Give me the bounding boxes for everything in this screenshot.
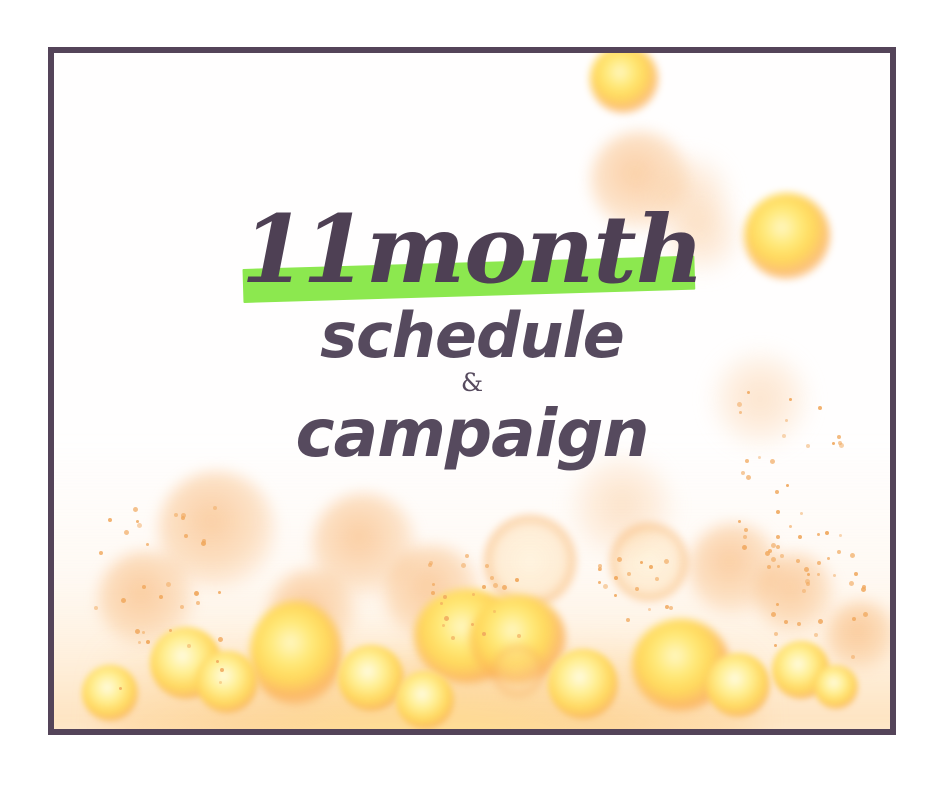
bottom-glow-wash [54,445,890,729]
bokeh-orb-glow-bottom-j [772,641,830,699]
page-title: 11month [241,203,703,299]
bokeh-orb-glow-bottom-i [706,653,770,717]
bokeh-orb-soft-left-b [98,551,194,647]
headline-word: month [366,195,703,305]
bokeh-ring-bottom [492,645,544,697]
bokeh-orb-glow-bottom-f [196,651,258,713]
bokeh-orb-soft-right-b [688,523,780,615]
bokeh-orb-glow-top [590,53,658,113]
bokeh-orb-glow-bottom-a [414,589,522,683]
subline-schedule: schedule [54,303,890,368]
headline-wrapper: 11month [237,203,707,299]
dot-cluster-center [594,553,674,623]
bokeh-orb-soft-mid-a [312,493,416,597]
poster-canvas: 11month schedule & campaign [0,0,940,788]
bokeh-orb-soft-far-right [826,601,890,671]
poster-text-block: 11month schedule & campaign [54,203,890,468]
bokeh-ring-center [484,515,576,607]
bokeh-orb-glow-bottom-m [396,671,454,729]
bokeh-orb-soft-left-a [158,471,276,589]
bottom-glow-core [104,648,756,729]
bokeh-orb-glow-bottom-e [150,627,222,699]
bokeh-orb-soft-mid-b [384,545,480,641]
bokeh-orb-glow-bottom-c [250,601,342,705]
bokeh-orb-glow-bottom-b [470,595,566,683]
subline-campaign: campaign [54,399,890,468]
bokeh-orb-glow-bottom-k [814,665,858,709]
dot-cluster-mid [424,551,524,641]
bokeh-orb-glow-bottom-l [82,665,138,721]
bokeh-orb-soft-right-c [754,553,834,633]
poster-frame: 11month schedule & campaign [48,47,896,735]
headline-number: 11 [241,195,364,305]
bokeh-orb-glow-bottom-h [548,649,618,719]
dot-cluster-left [94,501,224,691]
ampersand: & [54,370,890,395]
bokeh-ring-right [610,523,688,601]
bokeh-orb-glow-bottom-d [632,619,730,711]
dot-cluster-right-low [770,551,880,661]
bokeh-orb-glow-bottom-g [338,645,404,711]
bokeh-orb-soft-mid-c [268,569,356,657]
